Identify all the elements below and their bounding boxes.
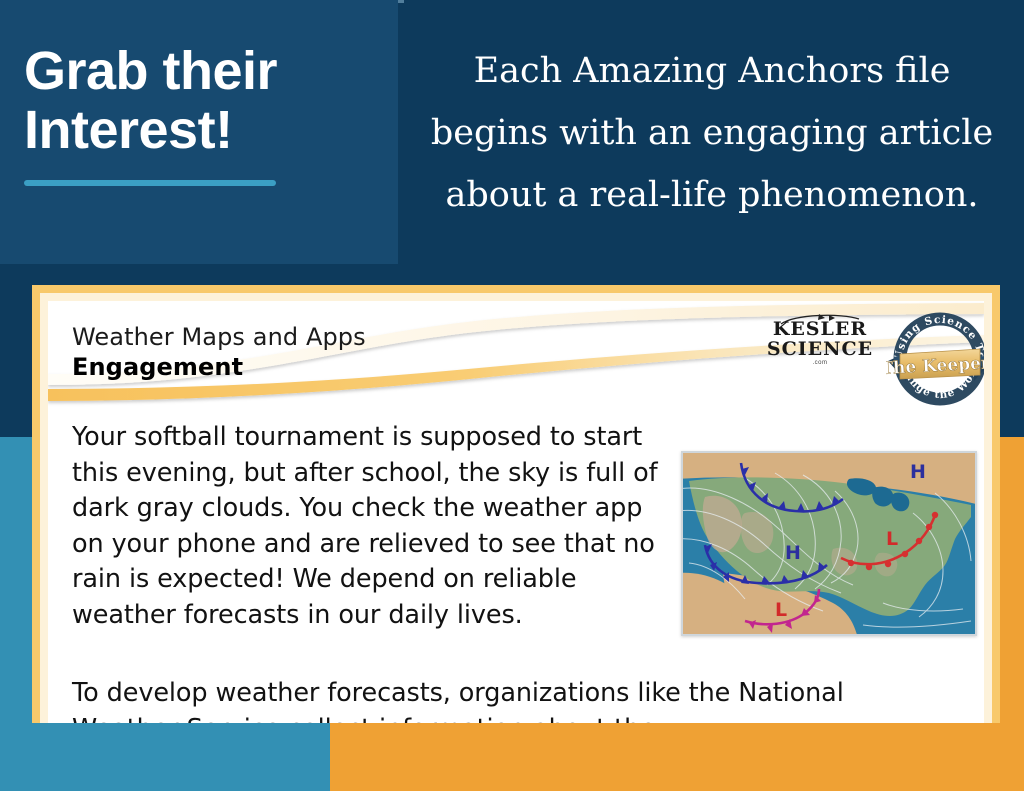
document-paragraph-2: To develop weather forecasts, organizati… (72, 676, 952, 723)
document-paragraph-1: Your softball tournament is supposed to … (72, 420, 672, 633)
document-subtitle: Engagement (72, 353, 243, 381)
the-keepers-badge-icon: Using Science To Change the World The Ke… (886, 305, 984, 413)
lead-paragraph: Each Amazing Anchors file begins with an… (414, 40, 1010, 226)
document-page: Weather Maps and Apps Engagement KESLER … (48, 301, 984, 723)
logo-tld: .com (765, 360, 875, 366)
document-preview-card[interactable]: Weather Maps and Apps Engagement KESLER … (32, 285, 1000, 723)
logo-line-2: SCIENCE (765, 339, 875, 359)
slide-canvas: Grab their Interest! Each Amazing Anchor… (0, 0, 1024, 791)
weather-map-graphic: H H L L (683, 453, 975, 634)
us-weather-map-image: H H L L (681, 451, 977, 636)
logo-orbit-icon (779, 313, 865, 327)
headline-line-2: Interest! (24, 101, 394, 160)
document-title: Weather Maps and Apps (72, 323, 366, 351)
headline-block: Grab their Interest! (24, 42, 394, 186)
headline-line-1: Grab their (24, 42, 394, 101)
map-label-low-e: L (886, 528, 898, 550)
headline-underline-rule (24, 180, 276, 186)
map-label-high-w: H (785, 542, 801, 564)
document-header: Weather Maps and Apps Engagement KESLER … (48, 301, 984, 411)
map-label-high-ne: H (910, 461, 926, 483)
map-label-low-sw: L (775, 599, 787, 621)
kesler-science-logo: KESLER SCIENCE .com (765, 319, 875, 366)
